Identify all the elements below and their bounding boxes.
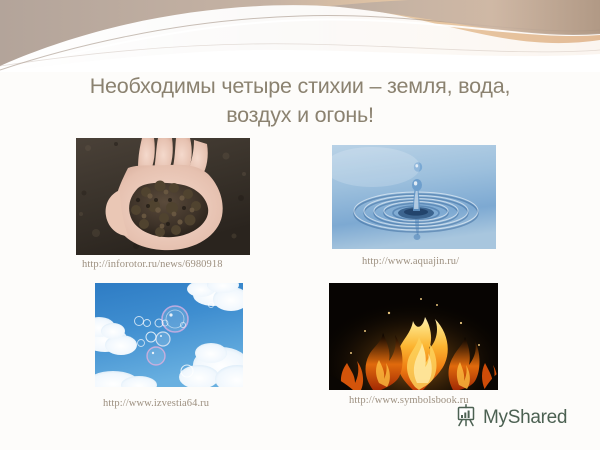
caption-water: http://www.aquajin.ru/ — [362, 256, 459, 267]
header-decoration — [0, 0, 600, 72]
image-earth — [76, 138, 250, 255]
image-fire — [329, 283, 498, 390]
image-air — [95, 283, 243, 387]
presentation-slide: Необходимы четыре стихии – земля, вода, … — [0, 0, 600, 450]
caption-air: http://www.izvestia64.ru — [103, 398, 209, 409]
slide-title-line-1: Необходимы четыре стихии – земля, вода, — [40, 72, 560, 101]
slide-title: Необходимы четыре стихии – земля, вода, … — [40, 72, 560, 130]
image-water — [332, 145, 496, 249]
myshared-label: MyShared — [483, 407, 567, 429]
myshared-watermark: MyShared — [456, 404, 567, 432]
flipchart-chart-icon — [456, 404, 478, 432]
caption-fire: http://www.symbolsbook.ru — [349, 395, 469, 406]
slide-title-line-2: воздух и огонь! — [40, 101, 560, 130]
caption-earth: http://inforotor.ru/news/6980918 — [82, 259, 223, 270]
